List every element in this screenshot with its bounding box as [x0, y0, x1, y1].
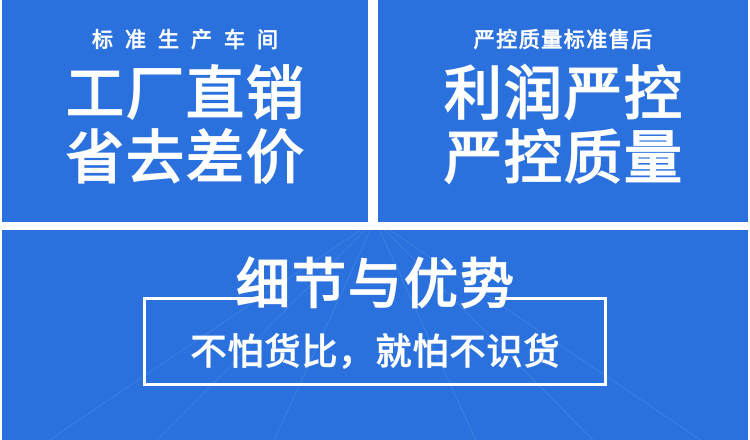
promo-banner: 标准生产车间 工厂直销 省去差价 严控质量标准售后 利润严控 严控质量 细节与优…	[0, 0, 750, 440]
panel-top-right: 严控质量标准售后 利润严控 严控质量	[378, 0, 748, 222]
bottom-panel-title: 细节与优势	[0, 258, 750, 312]
top-right-eyebrow: 严控质量标准售后	[472, 30, 654, 51]
panel-top-left: 标准生产车间 工厂直销 省去差价	[2, 0, 368, 222]
bottom-panel-subtitle: 不怕货比，就怕不识货	[0, 334, 750, 370]
top-left-headline-line1: 工厂直销	[64, 65, 306, 125]
top-left-eyebrow: 标准生产车间	[80, 30, 290, 51]
panel-top-left-content: 标准生产车间 工厂直销 省去差价	[2, 0, 368, 222]
panel-top-right-content: 严控质量标准售后 利润严控 严控质量	[378, 0, 748, 222]
top-right-headline-line1: 利润严控	[442, 65, 684, 125]
top-left-headline-line2: 省去差价	[64, 129, 306, 189]
top-right-headline-line2: 严控质量	[442, 129, 684, 189]
